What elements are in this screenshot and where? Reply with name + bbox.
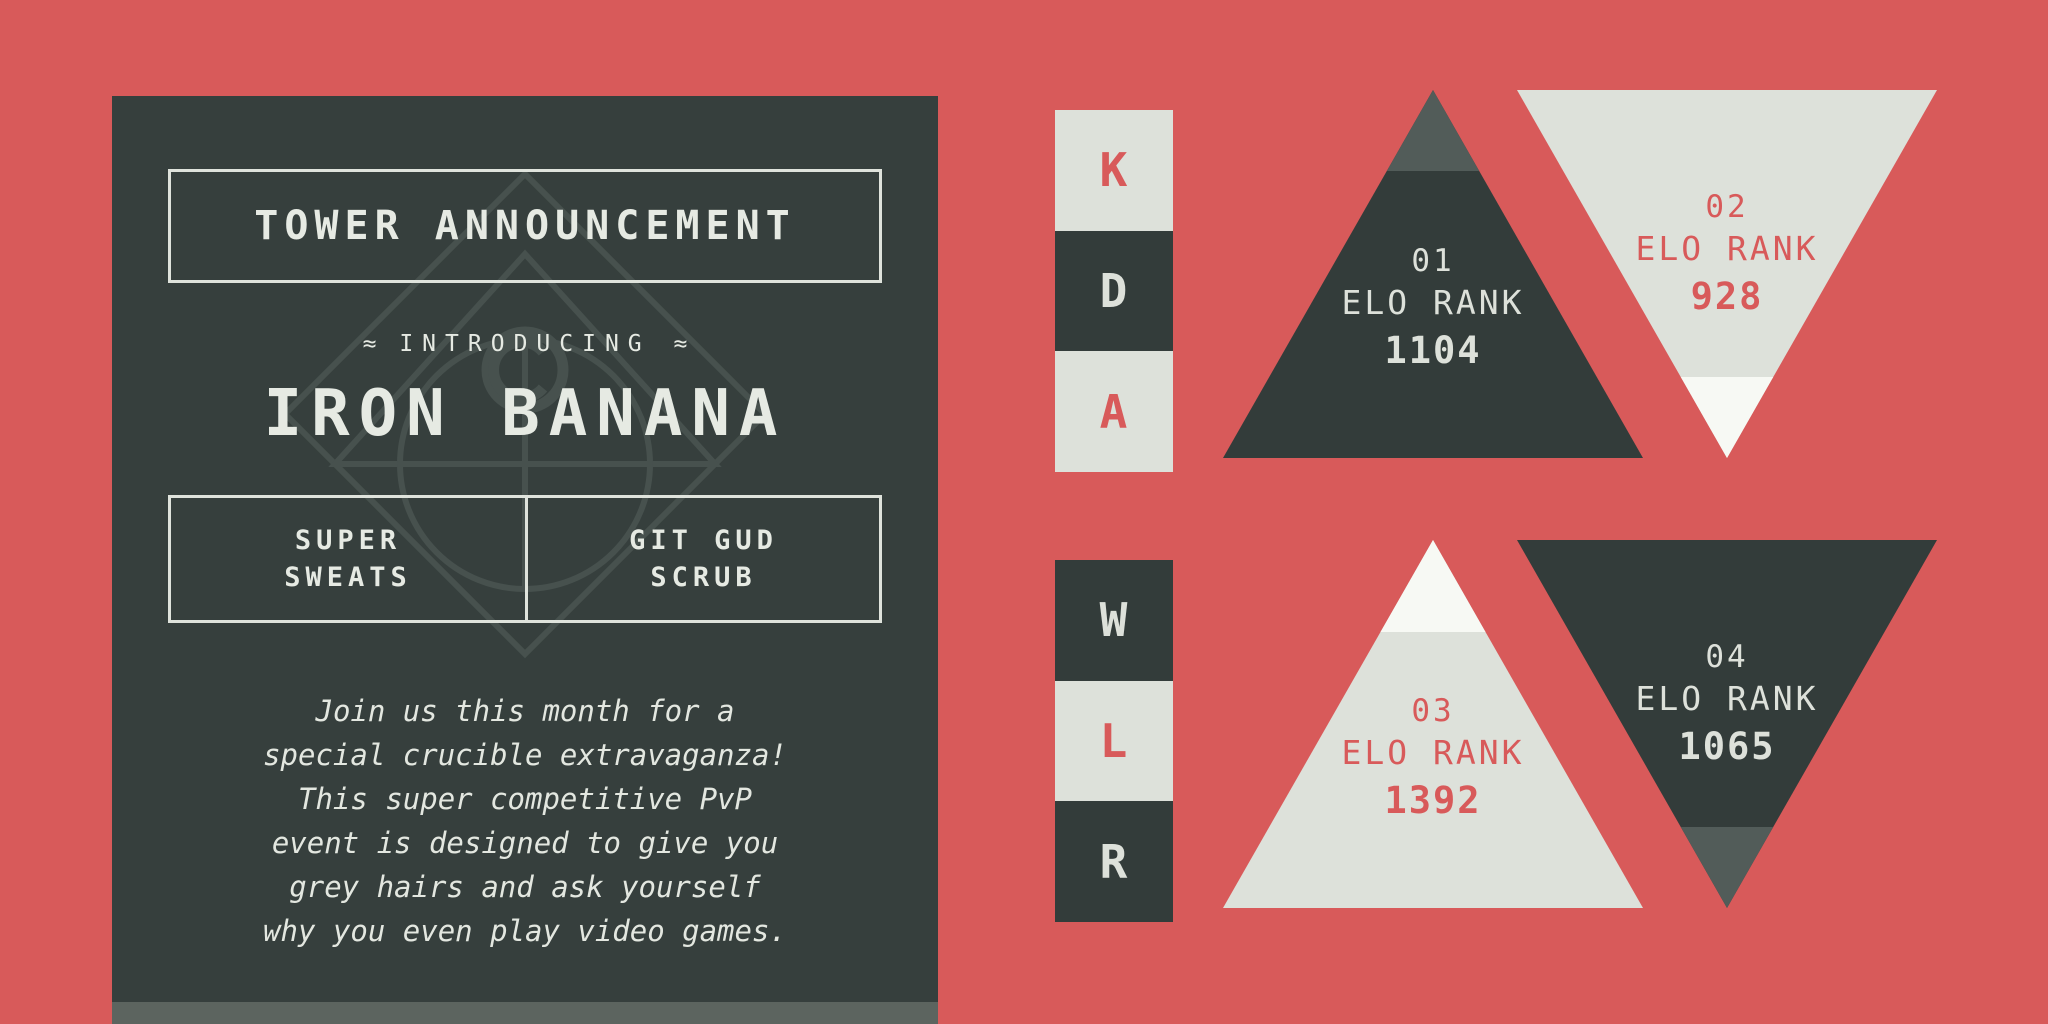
body-line: event is designed to give you bbox=[168, 821, 882, 865]
body-line: special crucible extravaganza! bbox=[168, 733, 882, 777]
stats-area: K D A bbox=[1055, 90, 1995, 1000]
poster-canvas: TOWER ANNOUNCEMENT ≈ INTRODUCING ≈ IRON … bbox=[0, 0, 2048, 1024]
tile-letter: W bbox=[1100, 597, 1129, 643]
tile-letter: K bbox=[1100, 147, 1129, 193]
body-line: why you even play video games. bbox=[168, 909, 882, 953]
tilde-left-icon: ≈ bbox=[363, 331, 377, 357]
body-copy: Join us this month for a special crucibl… bbox=[168, 689, 882, 953]
tile-r[interactable]: R bbox=[1055, 801, 1173, 922]
title-box: TOWER ANNOUNCEMENT bbox=[168, 169, 882, 283]
tile-letter: R bbox=[1100, 839, 1129, 885]
triangle-down-shape-icon bbox=[1517, 540, 1937, 908]
tag-line-2: SCRUB bbox=[650, 559, 756, 596]
page-title: TOWER ANNOUNCEMENT bbox=[254, 203, 795, 249]
body-line: Join us this month for a bbox=[168, 689, 882, 733]
panel-bottom-strip bbox=[112, 1002, 938, 1024]
tile-w[interactable]: W bbox=[1055, 560, 1173, 681]
tag-line-1: SUPER bbox=[295, 522, 401, 559]
tile-letter: A bbox=[1100, 389, 1129, 435]
tag-line-2: SWEATS bbox=[284, 559, 412, 596]
tilde-right-icon: ≈ bbox=[674, 331, 688, 357]
body-line: This super competitive PvP bbox=[168, 777, 882, 821]
stat-row-wlr: W L R bbox=[1055, 540, 1995, 920]
stat-row-kda: K D A bbox=[1055, 90, 1995, 470]
tile-letter: D bbox=[1100, 268, 1129, 314]
elo-triangle-02[interactable]: 02 ELO RANK 928 bbox=[1517, 90, 1937, 458]
tag-cell-git-gud-scrub: GIT GUD SCRUB bbox=[525, 498, 879, 620]
tile-a[interactable]: A bbox=[1055, 351, 1173, 472]
tile-letter: L bbox=[1100, 718, 1129, 764]
tag-cell-super-sweats: SUPER SWEATS bbox=[171, 498, 525, 620]
tag-box: SUPER SWEATS GIT GUD SCRUB bbox=[168, 495, 882, 623]
introducing-label: INTRODUCING bbox=[399, 331, 650, 357]
tile-stack-kda: K D A bbox=[1055, 110, 1173, 472]
headline: IRON BANANA bbox=[168, 377, 882, 451]
announcement-panel: TOWER ANNOUNCEMENT ≈ INTRODUCING ≈ IRON … bbox=[112, 96, 938, 1024]
tile-stack-wlr: W L R bbox=[1055, 560, 1173, 922]
announcement-content: TOWER ANNOUNCEMENT ≈ INTRODUCING ≈ IRON … bbox=[112, 169, 938, 953]
tile-d[interactable]: D bbox=[1055, 231, 1173, 352]
tile-k[interactable]: K bbox=[1055, 110, 1173, 231]
tile-l[interactable]: L bbox=[1055, 681, 1173, 802]
triangle-down-shape-icon bbox=[1517, 90, 1937, 458]
elo-triangle-04[interactable]: 04 ELO RANK 1065 bbox=[1517, 540, 1937, 908]
tag-line-1: GIT GUD bbox=[629, 522, 778, 559]
introducing-kicker: ≈ INTRODUCING ≈ bbox=[168, 331, 882, 357]
body-line: grey hairs and ask yourself bbox=[168, 865, 882, 909]
